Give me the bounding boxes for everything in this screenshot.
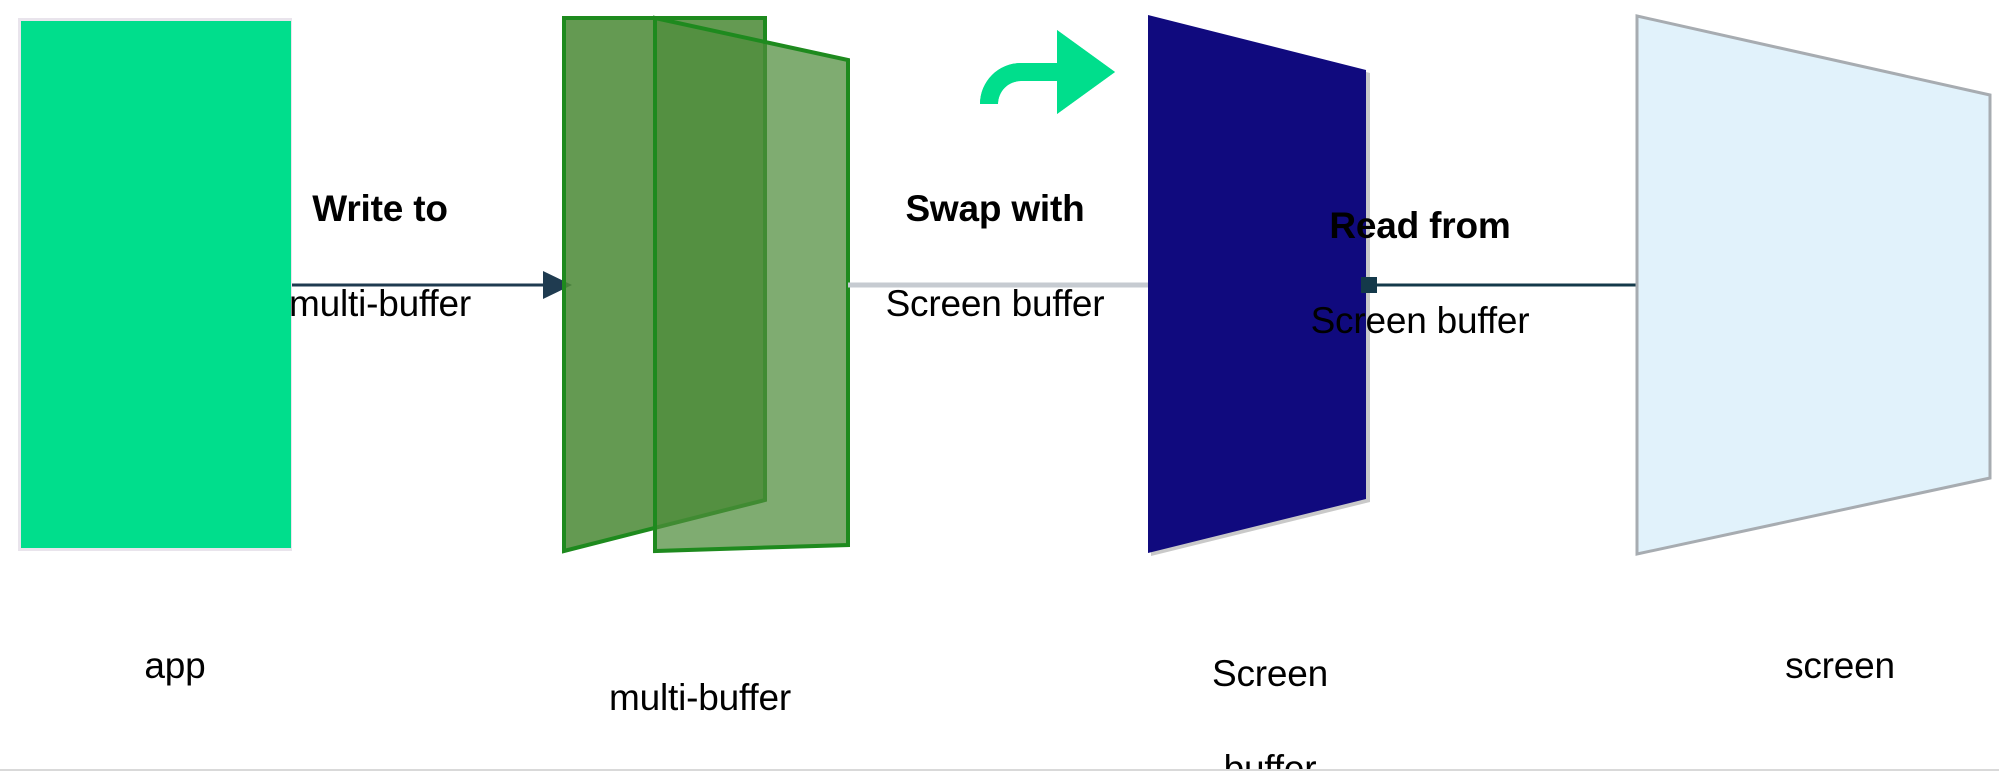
multi-buffer-plane-front bbox=[655, 18, 848, 551]
node-label-screen-buffer-line1: Screen bbox=[1120, 650, 1420, 697]
edge-label-write-to: Write to multi-buffer bbox=[230, 138, 530, 375]
screen-shape bbox=[1637, 16, 1990, 554]
node-label-screen-buffer-line2: buffer bbox=[1120, 745, 1420, 771]
node-label-screen-buffer: Screen buffer (memory) bbox=[1120, 603, 1420, 771]
node-label-screen: screen bbox=[1690, 595, 1990, 737]
sync-loop-icon bbox=[980, 30, 1115, 114]
diagram-canvas: Write to multi-buffer Swap with Screen b… bbox=[0, 0, 1999, 771]
node-label-app-line1: app bbox=[40, 642, 310, 689]
edge-label-read-from: Read from Screen buffer bbox=[1260, 155, 1580, 392]
edge-label-swap-with-bold: Swap with bbox=[840, 185, 1150, 232]
node-label-multi-buffer: multi-buffer (memory) bbox=[545, 627, 855, 771]
node-screen[interactable] bbox=[1637, 16, 1990, 554]
edge-label-write-to-light: multi-buffer bbox=[230, 280, 530, 327]
edge-label-write-to-bold: Write to bbox=[230, 185, 530, 232]
node-multi-buffer[interactable] bbox=[564, 18, 848, 551]
node-label-app: app bbox=[40, 595, 310, 737]
node-label-screen-line1: screen bbox=[1690, 642, 1990, 689]
node-label-multi-buffer-line1: multi-buffer bbox=[545, 674, 855, 721]
edge-label-swap-with: Swap with Screen buffer bbox=[840, 138, 1150, 375]
edge-label-read-from-light: Screen buffer bbox=[1260, 297, 1580, 344]
edge-label-swap-with-light: Screen buffer bbox=[840, 280, 1150, 327]
edge-label-read-from-bold: Read from bbox=[1260, 202, 1580, 249]
